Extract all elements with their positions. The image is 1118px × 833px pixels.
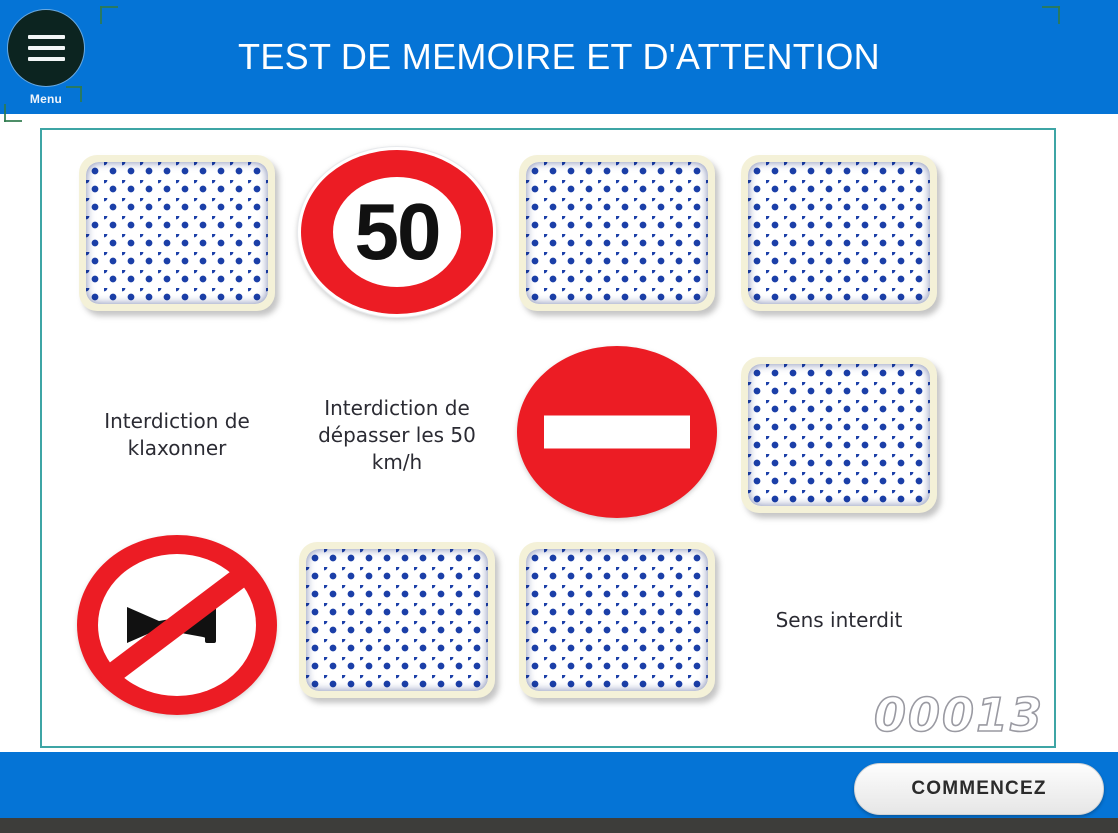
card-back[interactable] bbox=[79, 155, 275, 311]
grid-cell-r1c2[interactable]: 50 bbox=[292, 142, 502, 322]
grid-cell-r3c4[interactable]: Sens interdit bbox=[734, 535, 944, 705]
no-horn-sign[interactable] bbox=[77, 535, 277, 715]
hamburger-icon[interactable] bbox=[8, 10, 84, 86]
hamburger-bar bbox=[28, 35, 65, 39]
hamburger-bar bbox=[28, 46, 65, 50]
card-back[interactable] bbox=[299, 542, 495, 698]
menu-label: Menu bbox=[8, 92, 84, 106]
bottom-strip bbox=[0, 818, 1118, 833]
card-back[interactable] bbox=[741, 357, 937, 513]
grid-cell-r2c2[interactable]: Interdiction de dépasser les 50 km/h bbox=[292, 350, 502, 520]
card-grid: 50 Interdiction de klaxonner Interdictio… bbox=[42, 130, 1058, 750]
grid-cell-r3c3[interactable] bbox=[512, 535, 722, 705]
menu-button[interactable]: Menu bbox=[8, 10, 84, 106]
no-entry-bar bbox=[544, 416, 690, 449]
word-card-klaxonner[interactable]: Interdiction de klaxonner bbox=[72, 408, 282, 462]
grid-cell-r2c3[interactable] bbox=[512, 338, 722, 526]
memory-board: 50 Interdiction de klaxonner Interdictio… bbox=[40, 128, 1056, 748]
card-back[interactable] bbox=[519, 155, 715, 311]
app-footer: COMMENCEZ bbox=[0, 752, 1118, 818]
app-header: TEST DE MEMOIRE ET D'ATTENTION Menu bbox=[0, 0, 1118, 114]
grid-cell-r1c4[interactable] bbox=[734, 148, 944, 318]
word-card-sens-interdit[interactable]: Sens interdit bbox=[776, 607, 903, 634]
hamburger-bar bbox=[28, 57, 65, 61]
grid-cell-r2c4[interactable] bbox=[734, 350, 944, 520]
grid-cell-r3c1[interactable] bbox=[72, 530, 282, 720]
grid-cell-r2c1[interactable]: Interdiction de klaxonner bbox=[72, 350, 282, 520]
board-watermark: 00013 bbox=[874, 688, 1044, 742]
speed-limit-value: 50 bbox=[355, 192, 440, 272]
page-title: TEST DE MEMOIRE ET D'ATTENTION bbox=[0, 0, 1118, 114]
no-entry-sign[interactable] bbox=[517, 346, 717, 518]
word-card-depasser-50[interactable]: Interdiction de dépasser les 50 km/h bbox=[292, 395, 502, 476]
card-back[interactable] bbox=[519, 542, 715, 698]
start-button[interactable]: COMMENCEZ bbox=[854, 763, 1104, 815]
card-back[interactable] bbox=[741, 155, 937, 311]
grid-cell-r1c1[interactable] bbox=[72, 148, 282, 318]
speed-limit-50-sign[interactable]: 50 bbox=[297, 146, 497, 318]
grid-cell-r3c2[interactable] bbox=[292, 535, 502, 705]
grid-cell-r1c3[interactable] bbox=[512, 148, 722, 318]
app-root: TEST DE MEMOIRE ET D'ATTENTION Menu 50 bbox=[0, 0, 1118, 833]
